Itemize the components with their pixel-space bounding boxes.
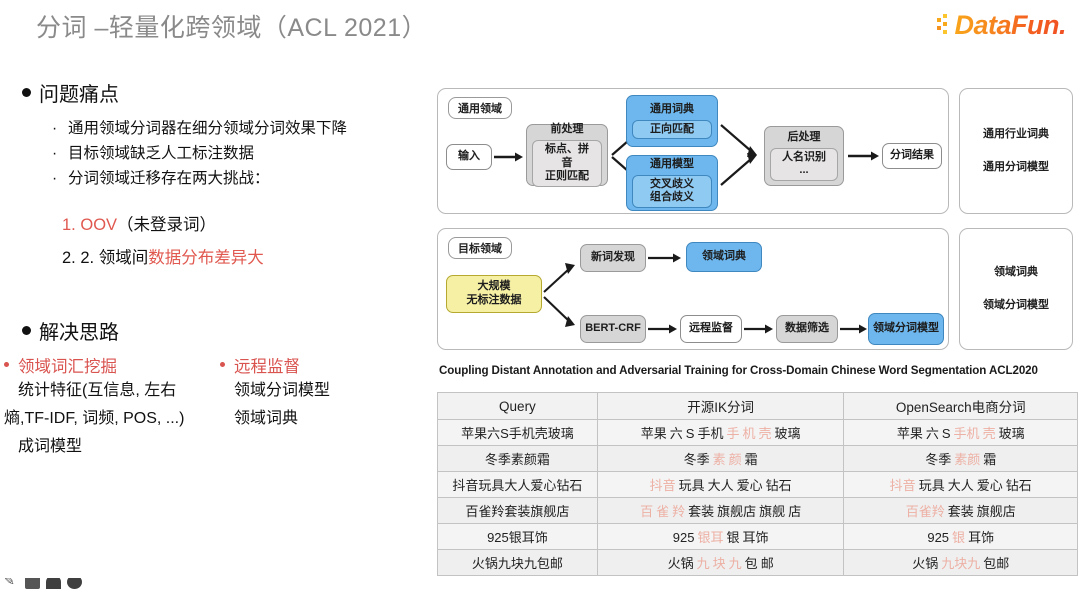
node-large-unlabeled-data: 大规模 无标注数据 xyxy=(446,275,542,313)
segment-token: 爱心 xyxy=(737,478,763,493)
cell-ik-segmentation: 抖音玩具大人爱心钻石 xyxy=(597,472,844,498)
bullet-dot-icon xyxy=(22,88,31,97)
solution-column-distant: 远程监督 领域分词模型 领域词典 xyxy=(220,353,420,461)
solution-detail-line: 熵,TF-IDF, 词频, POS, ...) xyxy=(4,405,220,433)
segment-token: 手机 xyxy=(697,426,723,441)
node-data-filtering: 数据筛选 xyxy=(776,315,838,343)
segment-token: 钻石 xyxy=(766,478,792,493)
table-header-row: Query 开源IK分词 OpenSearch电商分词 xyxy=(438,393,1078,420)
challenge-number: 2. xyxy=(62,249,76,267)
cell-ik-segmentation: 百雀羚套装旗舰店旗舰店 xyxy=(597,498,844,524)
table-body: 苹果六S手机壳玻璃苹果六S手机手机壳玻璃苹果六S手机壳玻璃冬季素颜霜冬季素颜霜冬… xyxy=(438,420,1078,576)
cell-query: 抖音玩具大人爱心钻石 xyxy=(438,472,598,498)
list-item: · 分词领域迁移存在两大挑战： xyxy=(52,166,430,191)
node-label: 通用模型 xyxy=(650,158,694,172)
list-item: · 目标领域缺乏人工标注数据 xyxy=(52,141,430,166)
list-item-label: 通用领域分词器在细分领域分词效果下降 xyxy=(68,116,347,141)
table-row: 苹果六S手机壳玻璃苹果六S手机手机壳玻璃苹果六S手机壳玻璃 xyxy=(438,420,1078,446)
segment-token: 大人 xyxy=(948,478,974,493)
challenge-domain-highlight: 数据分布差异大 xyxy=(148,249,264,267)
arrow-filter-to-domainmodel xyxy=(840,323,868,335)
column-header-opensearch: OpenSearch电商分词 xyxy=(844,393,1078,420)
solution-col-title: 远程监督 xyxy=(220,353,420,377)
cell-ik-segmentation: 火锅九块九包邮 xyxy=(597,550,844,576)
cell-query: 苹果六S手机壳玻璃 xyxy=(438,420,598,446)
segment-token: 颜 xyxy=(729,452,742,467)
solution-col-title: 领域词汇挖掘 xyxy=(4,353,220,377)
domain-segmentation-model-label: 领域分词模型 xyxy=(983,300,1049,311)
node-input: 输入 xyxy=(446,144,492,170)
arrow-distant-to-filter xyxy=(744,323,774,335)
slide-canvas: 分词 –轻量化跨领域（ACL 2021） DataFun. 问题痛点 · 通用领… xyxy=(0,0,1080,589)
cell-ik-segmentation: 925银耳银耳饰 xyxy=(597,524,844,550)
dot-matrix-icon xyxy=(937,14,953,36)
node-label: 分词结果 xyxy=(890,149,934,163)
circle-icon[interactable] xyxy=(67,578,82,589)
segment-token: 六 xyxy=(670,426,683,441)
section-heading-solution: 解决思路 xyxy=(22,316,430,345)
segment-token: 百雀羚 xyxy=(906,504,945,519)
cell-ik-segmentation: 苹果六S手机手机壳玻璃 xyxy=(597,420,844,446)
segment-token: 羚 xyxy=(672,504,685,519)
left-content-column: 问题痛点 · 通用领域分词器在细分领域分词效果下降 · 目标领域缺乏人工标注数据… xyxy=(0,78,430,578)
segment-token: 冬季 xyxy=(925,452,951,467)
solution-detail-line: 领域词典 xyxy=(220,405,420,433)
node-domain-dictionary: 领域词典 xyxy=(686,242,762,272)
node-preprocess: 前处理 标点、拼音 正则匹配 xyxy=(526,124,608,186)
segment-token: 火锅 xyxy=(912,556,938,571)
arrow-data-to-bertcrf xyxy=(544,293,578,331)
pen-icon[interactable]: ✎ xyxy=(4,578,19,589)
challenges-list: 1. OOV（未登录词） 2. 2. 领域间数据分布差异大 xyxy=(62,209,430,273)
node-postprocess: 后处理 人名识别 ... xyxy=(764,126,844,186)
image-icon[interactable] xyxy=(25,578,40,589)
node-sublabel: 标点、拼音 正则匹配 xyxy=(532,140,602,187)
segment-token: 925 xyxy=(673,530,695,545)
segment-token: 六 xyxy=(926,426,939,441)
segment-token: 百 xyxy=(640,504,653,519)
segment-token: 银耳 xyxy=(697,530,723,545)
solution-detail-line: 统计特征(互信息, 左右 xyxy=(4,377,220,405)
diagram-tag-general: 通用领域 xyxy=(448,97,512,119)
small-bullet-icon xyxy=(4,362,9,367)
bottom-toolbar-icons[interactable]: ✎ xyxy=(4,578,82,589)
node-label: 领域词典 xyxy=(702,250,746,264)
segment-token: 手 xyxy=(726,426,739,441)
node-label: 后处理 xyxy=(788,131,821,145)
segment-token: 包 xyxy=(745,556,758,571)
arrow-input-to-pre xyxy=(494,151,524,163)
segment-token: S xyxy=(686,426,695,441)
square-bullet-icon: · xyxy=(52,141,68,166)
solution-label: 解决思路 xyxy=(39,316,119,345)
node-distant-supervision: 远程监督 xyxy=(680,315,742,343)
domain-dictionary-label: 领域词典 xyxy=(994,267,1038,278)
solution-column-lexicon: 领域词汇挖掘 统计特征(互信息, 左右 熵,TF-IDF, 词频, POS, .… xyxy=(0,353,220,461)
node-label: 输入 xyxy=(458,150,480,164)
cell-opensearch-segmentation: 冬季素颜霜 xyxy=(844,446,1078,472)
general-industry-dictionary-label: 通用行业词典 xyxy=(983,129,1049,140)
node-label: 大规模 无标注数据 xyxy=(467,280,522,308)
column-header-query: Query xyxy=(438,393,598,420)
page-title: 分词 –轻量化跨领域（ACL 2021） xyxy=(36,8,427,44)
square-bullet-icon: · xyxy=(52,166,68,191)
segment-token: 耳饰 xyxy=(968,530,994,545)
challenge-oov-label: OOV xyxy=(80,216,117,234)
node-label: 远程监督 xyxy=(689,322,733,336)
segment-token: 大人 xyxy=(708,478,734,493)
diagram-target-domain: 目标领域 大规模 无标注数据 新词发现 领域词典 BERT-CRF 远程监督 xyxy=(437,228,949,350)
segment-token: 旗舰 xyxy=(759,504,785,519)
table-row: 火锅九块九包邮火锅九块九包邮火锅九块九包邮 xyxy=(438,550,1078,576)
segment-token: S xyxy=(942,426,951,441)
segment-token: 苹果 xyxy=(897,426,923,441)
node-bert-crf: BERT-CRF xyxy=(580,315,646,343)
column-header-ik: 开源IK分词 xyxy=(597,393,844,420)
list-item-label: 分词领域迁移存在两大挑战： xyxy=(68,166,270,191)
arrow-model-to-post xyxy=(721,151,761,189)
node-sublabel: 正向匹配 xyxy=(632,120,712,140)
segment-token: 九 xyxy=(697,556,710,571)
cell-ik-segmentation: 冬季素颜霜 xyxy=(597,446,844,472)
table-row: 百雀羚套装旗舰店百雀羚套装旗舰店旗舰店百雀羚套装旗舰店 xyxy=(438,498,1078,524)
segment-token: 机 xyxy=(743,426,756,441)
panel-general-outputs: 通用行业词典 通用分词模型 xyxy=(959,88,1073,214)
solution-col-title-label: 远程监督 xyxy=(234,353,300,377)
segment-token: 冬季 xyxy=(684,452,710,467)
list-item: 1. OOV（未登录词） xyxy=(62,209,430,241)
segment-token: 雀 xyxy=(656,504,669,519)
cell-query: 火锅九块九包邮 xyxy=(438,550,598,576)
diagram-general-domain: 通用领域 输入 前处理 标点、拼音 正则匹配 通用词典 正向匹配 通用模型 交叉… xyxy=(437,88,949,214)
solution-detail-line: 领域分词模型 xyxy=(220,377,420,405)
segment-token: 手机 xyxy=(954,426,980,441)
square-bullet-icon: · xyxy=(52,116,68,141)
node-domain-segmentation-model: 领域分词模型 xyxy=(868,313,944,345)
challenge-domain-label: 2. 领域间 xyxy=(80,249,148,267)
segment-token: 爱心 xyxy=(977,478,1003,493)
segment-token: 玻璃 xyxy=(999,426,1025,441)
node-general-dictionary: 通用词典 正向匹配 xyxy=(626,95,718,147)
segment-token: 壳 xyxy=(983,426,996,441)
segment-token: 旗舰店 xyxy=(977,504,1016,519)
challenge-number: 1. xyxy=(62,216,76,234)
segment-token: 块 xyxy=(713,556,726,571)
cell-query: 925银耳饰 xyxy=(438,524,598,550)
node-segmentation-result: 分词结果 xyxy=(882,143,942,169)
segment-token: 银 xyxy=(952,530,965,545)
segment-token: 苹果 xyxy=(641,426,667,441)
solution-col-title-label: 领域词汇挖掘 xyxy=(18,353,117,377)
cell-opensearch-segmentation: 火锅九块九包邮 xyxy=(844,550,1078,576)
datafun-logo: DataFun. xyxy=(937,10,1066,40)
cell-opensearch-segmentation: 百雀羚套装旗舰店 xyxy=(844,498,1078,524)
segment-token: 火锅 xyxy=(668,556,694,571)
list-item-label: 目标领域缺乏人工标注数据 xyxy=(68,141,254,166)
cell-query: 冬季素颜霜 xyxy=(438,446,598,472)
segment-token: 九 xyxy=(729,556,742,571)
segmentation-comparison-table: Query 开源IK分词 OpenSearch电商分词 苹果六S手机壳玻璃苹果六… xyxy=(437,392,1078,576)
small-bullet-icon xyxy=(220,362,225,367)
segment-token: 旗舰店 xyxy=(717,504,756,519)
cell-query: 百雀羚套装旗舰店 xyxy=(438,498,598,524)
cell-opensearch-segmentation: 925银耳饰 xyxy=(844,524,1078,550)
segment-token: 壳 xyxy=(759,426,772,441)
node-label: 前处理 xyxy=(551,123,584,137)
node-sublabel: 人名识别 ... xyxy=(770,148,838,182)
segment-token: 玻璃 xyxy=(775,426,801,441)
list-item: · 通用领域分词器在细分领域分词效果下降 xyxy=(52,116,430,141)
segment-token: 邮 xyxy=(761,556,774,571)
segment-token: 玩具 xyxy=(919,478,945,493)
arrow-post-to-result xyxy=(848,150,880,162)
segment-token: 抖音 xyxy=(890,478,916,493)
segment-token: 抖音 xyxy=(650,478,676,493)
segment-token: 玩具 xyxy=(679,478,705,493)
segment-token: 套装 xyxy=(688,504,714,519)
segment-token: 九块九 xyxy=(941,556,980,571)
node-sublabel: 交叉歧义 组合歧义 xyxy=(632,175,712,209)
shape-icon[interactable] xyxy=(46,578,61,589)
segment-token: 店 xyxy=(788,504,801,519)
general-segmentation-model-label: 通用分词模型 xyxy=(983,162,1049,173)
panel-target-outputs: 领域词典 领域分词模型 xyxy=(959,228,1073,350)
segment-token: 包邮 xyxy=(983,556,1009,571)
section-heading-pain-points: 问题痛点 xyxy=(22,78,430,107)
solution-columns: 领域词汇挖掘 统计特征(互信息, 左右 熵,TF-IDF, 词频, POS, .… xyxy=(0,353,430,461)
paper-citation: Coupling Distant Annotation and Adversar… xyxy=(439,364,1038,377)
diagram-tag-target: 目标领域 xyxy=(448,237,512,259)
challenge-oov-note: （未登录词） xyxy=(117,216,216,234)
segment-token: 925 xyxy=(927,530,949,545)
list-item: 2. 2. 领域间数据分布差异大 xyxy=(62,242,430,274)
arrow-data-to-newword xyxy=(544,261,578,297)
segment-token: 霜 xyxy=(983,452,996,467)
arrow-newword-to-domaindict xyxy=(648,252,682,264)
solution-section: 解决思路 领域词汇挖掘 统计特征(互信息, 左右 熵,TF-IDF, 词频, P… xyxy=(0,316,430,461)
node-new-word-discovery: 新词发现 xyxy=(580,244,646,272)
node-general-model: 通用模型 交叉歧义 组合歧义 xyxy=(626,155,718,211)
arrow-bertcrf-to-distant xyxy=(648,323,678,335)
node-label: 通用词典 xyxy=(650,103,694,117)
segment-token: 霜 xyxy=(745,452,758,467)
logo-text: DataFun. xyxy=(954,12,1066,39)
pain-points-label: 问题痛点 xyxy=(39,78,119,107)
node-label: 数据筛选 xyxy=(785,322,829,336)
solution-detail-line: 成词模型 xyxy=(4,433,220,461)
table-row: 抖音玩具大人爱心钻石抖音玩具大人爱心钻石抖音玩具大人爱心钻石 xyxy=(438,472,1078,498)
cell-opensearch-segmentation: 苹果六S手机壳玻璃 xyxy=(844,420,1078,446)
node-label: 新词发现 xyxy=(591,251,635,265)
segment-token: 银 xyxy=(727,530,740,545)
bullet-dot-icon xyxy=(22,326,31,335)
table-row: 925银耳饰925银耳银耳饰925银耳饰 xyxy=(438,524,1078,550)
segment-token: 套装 xyxy=(948,504,974,519)
node-label: 领域分词模型 xyxy=(873,322,939,336)
segment-token: 耳饰 xyxy=(743,530,769,545)
segment-token: 钻石 xyxy=(1006,478,1032,493)
pain-points-list: · 通用领域分词器在细分领域分词效果下降 · 目标领域缺乏人工标注数据 · 分词… xyxy=(52,116,430,191)
cell-opensearch-segmentation: 抖音玩具大人爱心钻石 xyxy=(844,472,1078,498)
table-row: 冬季素颜霜冬季素颜霜冬季素颜霜 xyxy=(438,446,1078,472)
node-label: BERT-CRF xyxy=(585,322,641,336)
segment-token: 素 xyxy=(713,452,726,467)
segment-token: 素颜 xyxy=(954,452,980,467)
